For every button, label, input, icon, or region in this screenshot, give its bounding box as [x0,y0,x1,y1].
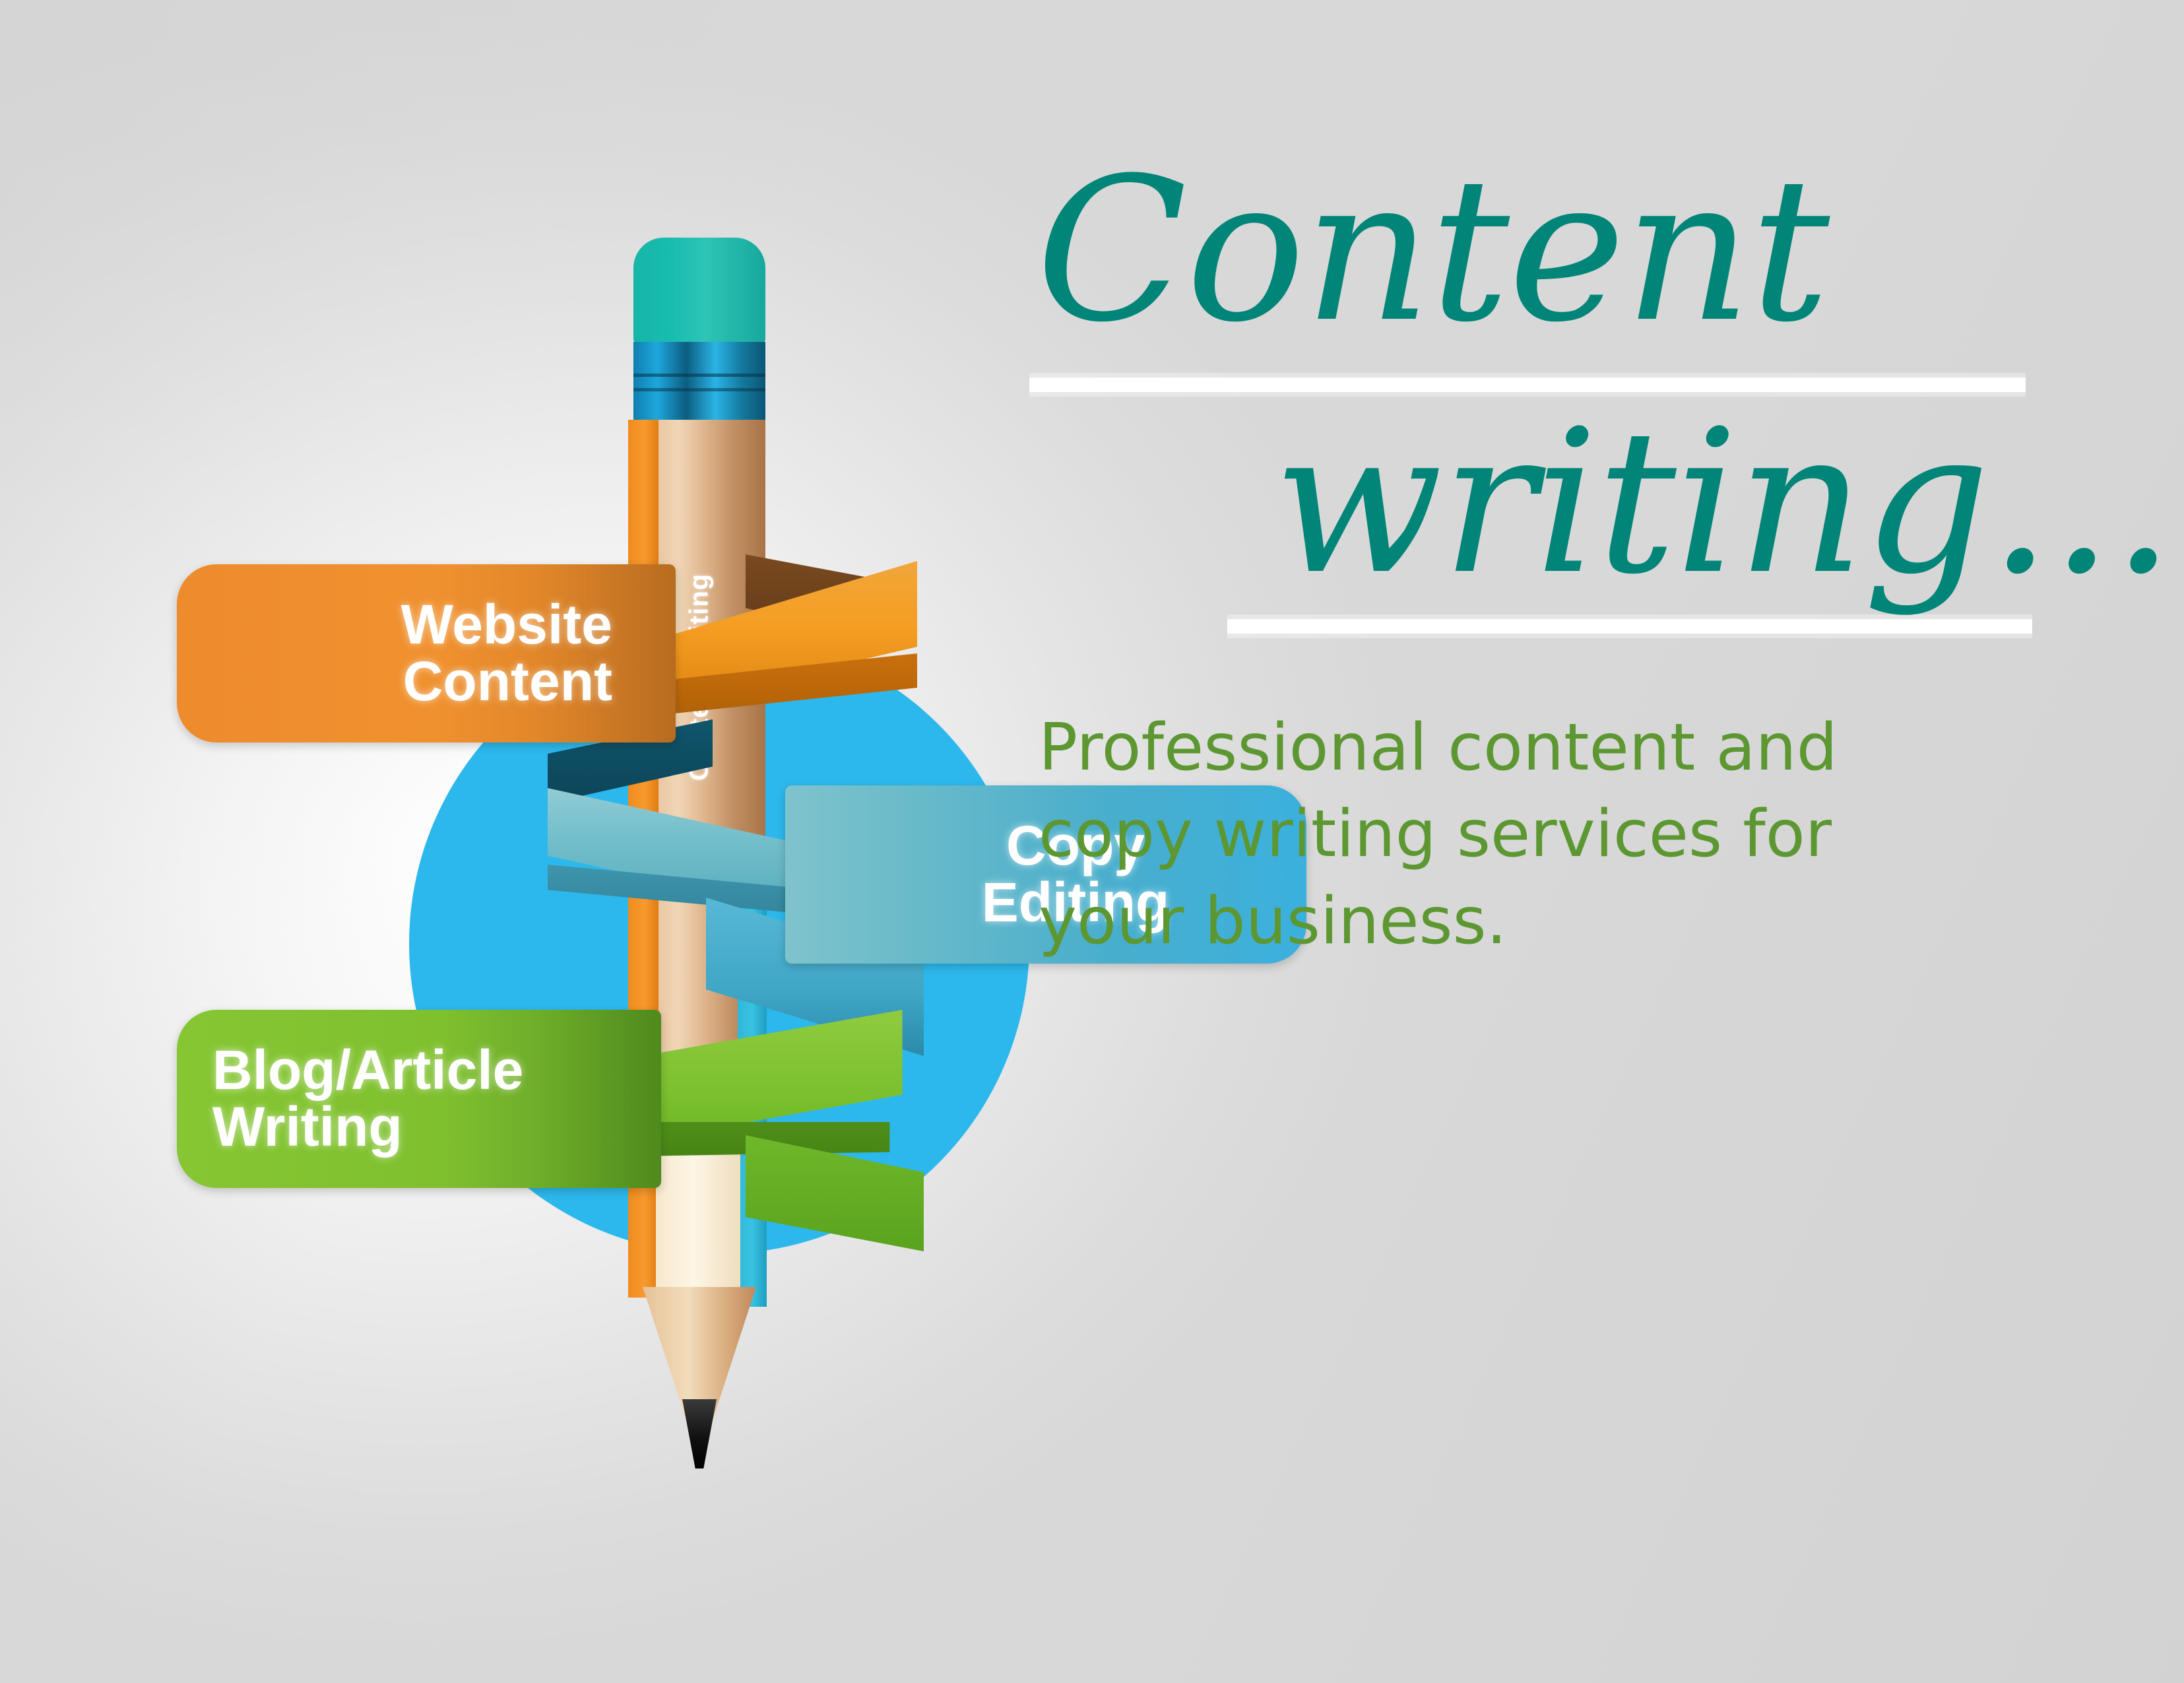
ribbon-website-content-line1: Website [401,597,612,653]
ribbon-blog-article-line2: Writing [212,1099,523,1156]
headline-divider-bottom [1227,619,2032,634]
poster-canvas: Content Writing Website Content [0,0,2184,1683]
ribbon-blog-article-writing[interactable]: Blog/Article Writing [177,1010,661,1188]
headline-line-1: Content [1036,152,2151,350]
body-copy-text: Professional content and copy writing se… [1039,705,1903,965]
pencil-ferrule-icon [633,342,765,421]
content-writing-illustration: Content Writing Website Content [0,0,1095,1683]
ribbon-website-content-line2: Content [401,653,612,710]
headline-line-2: writing.... [1273,404,2151,602]
ribbon-website-content[interactable]: Website Content [177,564,676,742]
headline-block: Content writing.... Professional content… [1029,152,2151,965]
pencil-lead-tip-icon [682,1399,717,1468]
pencil-eraser-icon [633,238,765,343]
ribbon-blog-article-line1: Blog/Article [212,1042,523,1099]
spiral-green-band-2 [746,1135,924,1267]
